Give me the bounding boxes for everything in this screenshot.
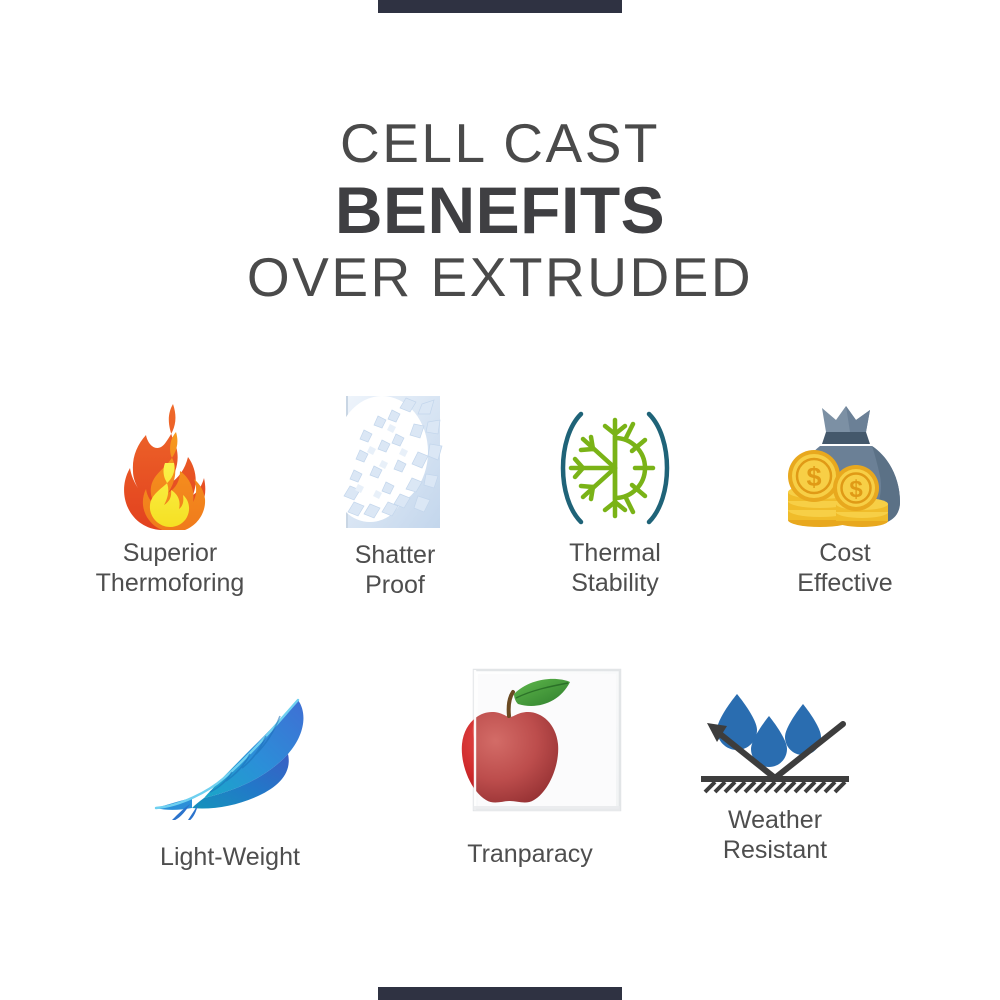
title-line-2: BENEFITS: [0, 174, 1000, 246]
feather-icon: [140, 692, 320, 820]
benefit-item-transparency: Tranparacy: [410, 660, 650, 869]
shattering-glass-icon: [330, 390, 460, 532]
apple-right-half: [462, 712, 558, 803]
benefit-label: Superior Thermoforing: [50, 538, 290, 598]
benefit-item-light-weight: Light-Weight: [110, 690, 350, 872]
top-accent-bar: [378, 0, 622, 13]
dollar-sign-right: $: [849, 476, 863, 503]
flame-icon: [114, 402, 226, 530]
icon-container: [110, 690, 350, 820]
benefit-item-weather-resistant: Weather Resistant: [680, 690, 870, 865]
benefit-label: Tranparacy: [410, 839, 650, 869]
benefit-item-cost-effective: $ $ Cost Effective: [745, 400, 945, 598]
title-line-1: CELL CAST: [0, 112, 1000, 174]
benefit-label: Cost Effective: [745, 538, 945, 598]
money-bag-icon: $ $: [780, 400, 910, 530]
benefit-item-thermal-stability: Thermal Stability: [520, 405, 710, 598]
benefit-label: Light-Weight: [110, 842, 350, 872]
water-repellent-icon: [695, 690, 855, 795]
benefit-item-thermoforming: Superior Thermoforing: [50, 400, 290, 598]
icon-container: [50, 400, 290, 530]
icon-container: $ $: [745, 400, 945, 530]
icon-container: [410, 660, 650, 825]
title-line-3: OVER EXTRUDED: [0, 246, 1000, 308]
benefit-label: Shatter Proof: [300, 540, 490, 600]
apple-behind-glass-icon: [430, 660, 630, 825]
benefit-label: Weather Resistant: [680, 805, 870, 865]
surface-hatching: [705, 782, 845, 792]
icon-container: [300, 392, 490, 532]
benefit-label: Thermal Stability: [520, 538, 710, 598]
icon-container: [520, 405, 710, 530]
benefit-item-shatter-proof: Shatter Proof: [300, 392, 490, 600]
thermal-stability-icon: [549, 406, 681, 530]
dollar-sign-left: $: [806, 462, 821, 492]
page-title: CELL CAST BENEFITS OVER EXTRUDED: [0, 112, 1000, 308]
icon-container: [680, 690, 870, 795]
bottom-accent-bar: [378, 987, 622, 1000]
